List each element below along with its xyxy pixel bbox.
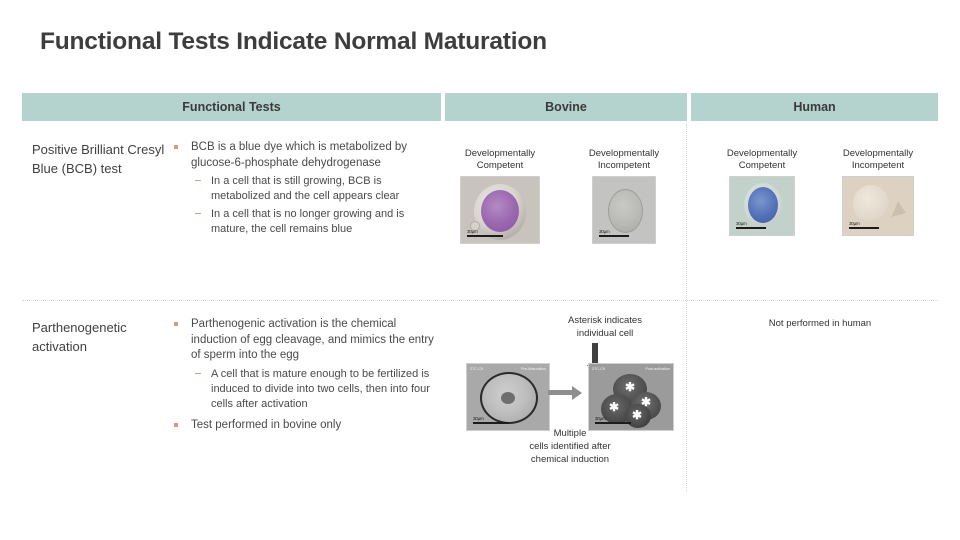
oocyte-stained-region xyxy=(748,187,778,223)
bullet-square-icon xyxy=(174,423,178,427)
scale-bar-label: 30µm xyxy=(595,416,606,421)
scale-bar-label: 30µm xyxy=(599,229,610,234)
scale-bar-label: 30µm xyxy=(473,416,484,421)
figure-human-incompetent: Developmentally Incompetent 30µm xyxy=(832,148,924,236)
scale-bar xyxy=(849,227,879,229)
oocyte-shape xyxy=(608,189,643,233)
scale-bar xyxy=(599,235,629,237)
row-description-bcb: BCB is a blue dye which is metabolized b… xyxy=(172,140,437,240)
scale-bar xyxy=(473,422,509,424)
list-item: Test performed in bovine only xyxy=(172,418,437,434)
debris-fragment xyxy=(890,201,906,217)
bullet-text: In a cell that is still growing, BCB is … xyxy=(211,175,399,202)
column-header-label: Bovine xyxy=(545,100,587,114)
bullet-dash-icon xyxy=(195,373,201,374)
scale-bar xyxy=(736,227,766,229)
list-item: A cell that is mature enough to be ferti… xyxy=(191,367,437,412)
column-header-label: Human xyxy=(793,100,835,114)
list-item: In a cell that is still growing, BCB is … xyxy=(191,174,437,204)
asterisk-marker-2: ✱ xyxy=(609,402,619,412)
micrograph-bovine-competent: 30µm xyxy=(460,176,540,244)
asterisk-marker-3: ✱ xyxy=(641,397,651,407)
row-divider xyxy=(22,300,938,301)
micrograph-bovine-incompetent: 30µm xyxy=(592,176,656,244)
asterisk-annotation-label: Asterisk indicates individual cell xyxy=(530,315,680,340)
list-item: BCB is a blue dye which is metabolized b… xyxy=(172,140,437,171)
column-header-functional-tests: Functional Tests xyxy=(22,93,441,121)
micrograph-post-activation: 27C-C9 Post-activation ✱ ✱ ✱ ✱ 30µm xyxy=(588,363,674,431)
scale-bar-label: 30µm xyxy=(467,229,478,234)
column-header-bovine: Bovine xyxy=(445,93,687,121)
figure-caption: Developmentally Incompetent xyxy=(832,148,924,172)
oocyte-nucleus xyxy=(501,392,515,404)
micrograph-stage-right: Post-activation xyxy=(645,366,670,371)
figure-bovine-competent: Developmentally Competent 30µm xyxy=(455,148,545,244)
sub-list: A cell that is mature enough to be ferti… xyxy=(172,367,437,412)
bullet-text: In a cell that is no longer growing and … xyxy=(211,208,404,235)
diagram-parthenogenetic-bovine: Asterisk indicates individual cell 27C-C… xyxy=(452,315,684,485)
figure-bovine-incompetent: Developmentally Incompetent 30µm xyxy=(578,148,670,244)
column-header-human: Human xyxy=(691,93,938,121)
figure-caption: Developmentally Competent xyxy=(455,148,545,172)
micrograph-human-incompetent: 30µm xyxy=(842,176,914,236)
table-header-row: Functional Tests Bovine Human xyxy=(22,93,938,121)
scale-bar xyxy=(467,235,503,237)
micrograph-human-competent: 30µm xyxy=(729,176,795,236)
micrograph-tag-left: 27C-C9 xyxy=(470,366,483,371)
figure-caption: Developmentally Competent xyxy=(718,148,806,172)
bullet-dash-icon xyxy=(195,213,201,214)
multiple-cells-annotation-label: Multiple cells identified after chemical… xyxy=(490,427,650,466)
bullet-text: Parthenogenic activation is the chemical… xyxy=(191,318,434,361)
oocyte-shape xyxy=(853,185,889,223)
scale-bar-label: 30µm xyxy=(849,221,860,226)
bullet-square-icon xyxy=(174,145,178,149)
asterisk-marker-1: ✱ xyxy=(625,382,635,392)
micrograph-tag-right: 27C-C9 xyxy=(592,366,605,371)
row-label-parthenogenetic-activation: Parthenogenetic activation xyxy=(32,318,172,356)
scale-bar xyxy=(595,422,631,424)
figure-human-competent: Developmentally Competent 30µm xyxy=(718,148,806,236)
bullet-text: Test performed in bovine only xyxy=(191,419,341,431)
row-label-bcb-test: Positive Brilliant Cresyl Blue (BCB) tes… xyxy=(32,140,172,178)
bullet-text: BCB is a blue dye which is metabolized b… xyxy=(191,141,407,169)
column-divider xyxy=(686,124,687,492)
oocyte-stained-region xyxy=(481,190,519,232)
figure-caption: Developmentally Incompetent xyxy=(578,148,670,172)
scale-bar-label: 30µm xyxy=(736,221,747,226)
page-title: Functional Tests Indicate Normal Maturat… xyxy=(40,28,547,56)
asterisk-marker-4: ✱ xyxy=(632,410,642,420)
list-item: In a cell that is no longer growing and … xyxy=(191,207,437,237)
bullet-dash-icon xyxy=(195,180,201,181)
bullet-text: A cell that is mature enough to be ferti… xyxy=(211,368,430,410)
sub-list: In a cell that is still growing, BCB is … xyxy=(172,174,437,237)
human-not-performed-note: Not performed in human xyxy=(700,318,940,329)
row-description-parthenogenetic: Parthenogenic activation is the chemical… xyxy=(172,317,437,435)
micrograph-pre-maturation: 27C-C9 Pre-Maturation 30µm xyxy=(466,363,550,431)
list-item: Parthenogenic activation is the chemical… xyxy=(172,317,437,364)
bullet-square-icon xyxy=(174,322,178,326)
micrograph-stage-left: Pre-Maturation xyxy=(521,366,546,371)
column-header-label: Functional Tests xyxy=(182,100,280,114)
